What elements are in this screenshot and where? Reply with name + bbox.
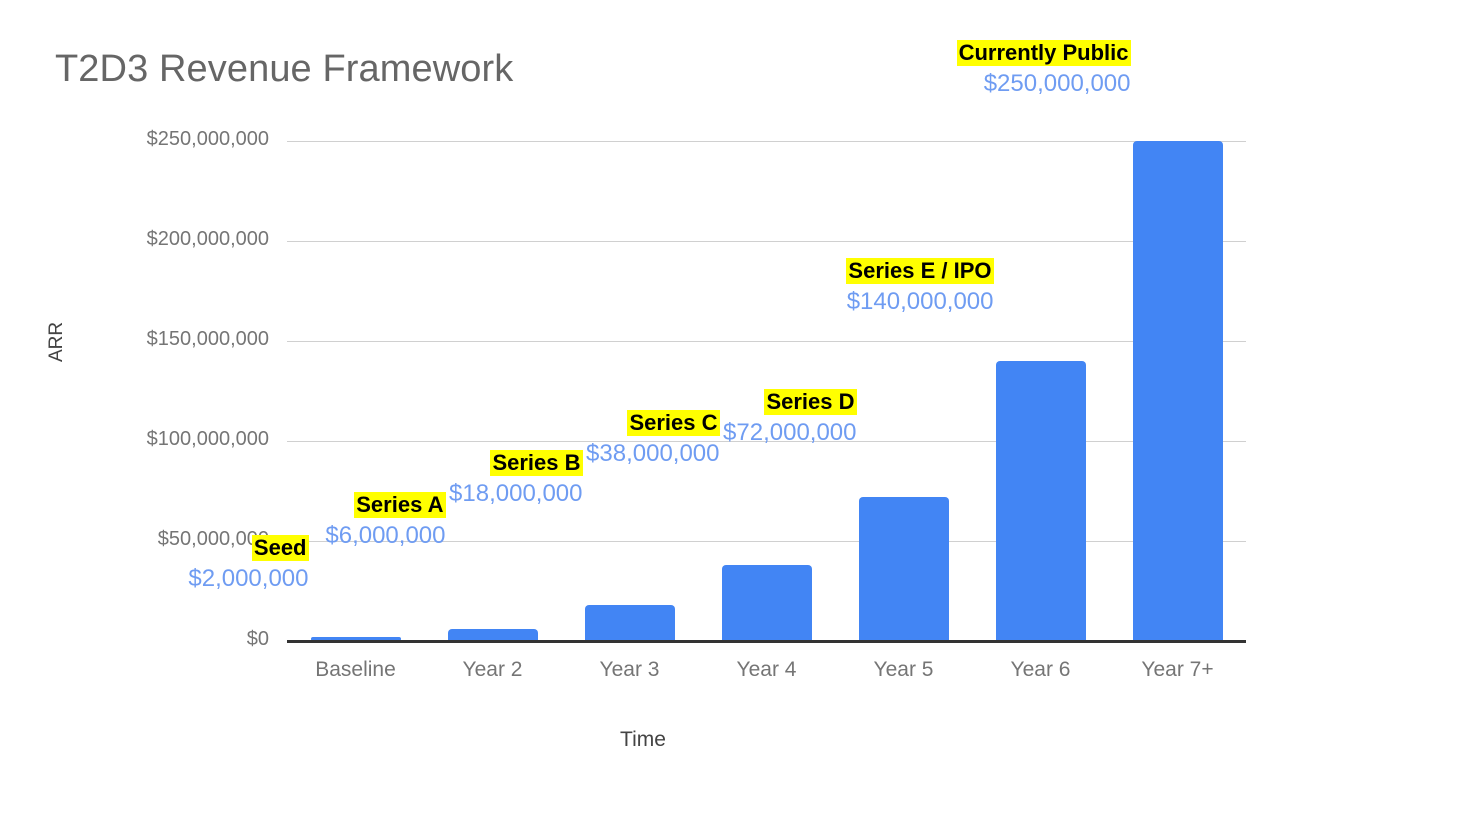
annotation-value-label: $2,000,000	[0, 565, 309, 594]
x-axis-title: Time	[0, 728, 1376, 752]
annotation-stage-label: Currently Public	[957, 40, 1131, 66]
annotation-value-label: $250,000,000	[0, 70, 1131, 99]
bar-annotation: Series E / IPO$140,000,000	[0, 258, 994, 317]
bar[interactable]	[585, 605, 675, 641]
y-axis-tick-label: $200,000,000	[0, 228, 269, 251]
bar[interactable]	[1133, 141, 1223, 641]
bar[interactable]	[996, 361, 1086, 641]
x-axis-tick-label: Year 2	[424, 658, 561, 682]
bar[interactable]	[859, 497, 949, 641]
annotation-value-label: $18,000,000	[0, 480, 583, 509]
gridline	[287, 241, 1246, 242]
x-axis-tick-label: Baseline	[287, 658, 424, 682]
x-axis-tick-label: Year 6	[972, 658, 1109, 682]
x-axis-tick-label: Year 5	[835, 658, 972, 682]
annotation-stage-label: Series D	[764, 389, 856, 415]
y-axis-tick-label: $0	[0, 628, 269, 651]
x-axis-line	[287, 640, 1246, 643]
x-axis-tick-label: Year 3	[561, 658, 698, 682]
annotation-value-label: $72,000,000	[0, 419, 857, 448]
x-axis-tick-label: Year 4	[698, 658, 835, 682]
annotation-value-label: $140,000,000	[0, 288, 994, 317]
gridline	[287, 141, 1246, 142]
y-axis-tick-label: $250,000,000	[0, 128, 269, 151]
bar-annotation: Currently Public$250,000,000	[0, 40, 1131, 99]
gridline	[287, 341, 1246, 342]
y-axis-tick-label: $150,000,000	[0, 328, 269, 351]
annotation-stage-label: Series E / IPO	[846, 258, 993, 284]
bar-annotation: Series D$72,000,000	[0, 389, 857, 448]
bar[interactable]	[722, 565, 812, 641]
x-axis-tick-label: Year 7+	[1109, 658, 1246, 682]
chart-container: T2D3 Revenue Framework ARR Time $0$50,00…	[0, 0, 1466, 815]
annotation-value-label: $6,000,000	[0, 522, 446, 551]
